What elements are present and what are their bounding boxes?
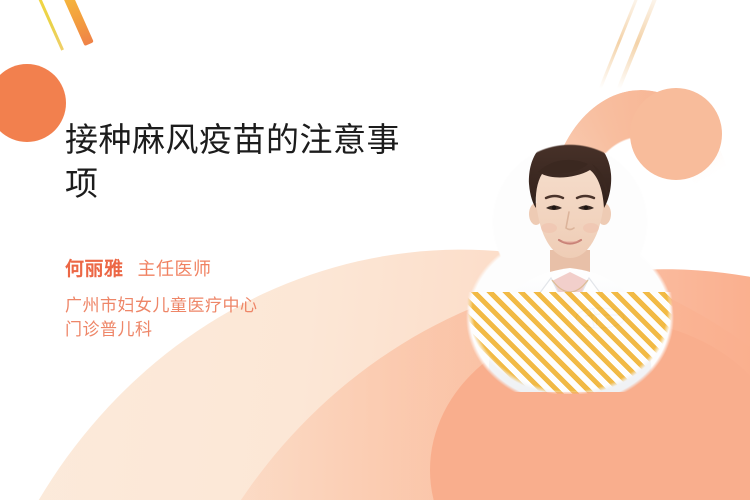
orange-stripe-decoration bbox=[57, 0, 94, 46]
doctor-credits: 何丽雅 主任医师 广州市妇女儿童医疗中心 门诊普儿科 bbox=[65, 254, 425, 342]
faint-stripe-decoration-b bbox=[617, 0, 662, 89]
faint-stripe-decoration-c bbox=[149, 358, 164, 393]
yellow-stripe-decoration bbox=[36, 0, 64, 51]
portrait-composition bbox=[452, 86, 750, 396]
faint-stripe-decoration-a bbox=[599, 0, 643, 89]
doctor-hospital: 广州市妇女儿童医疗中心 bbox=[65, 294, 425, 318]
orange-circle-decoration bbox=[0, 64, 66, 142]
yellow-stripe-band bbox=[464, 292, 676, 394]
doctor-department: 门诊普儿科 bbox=[65, 318, 425, 342]
doctor-name-line: 何丽雅 主任医师 bbox=[65, 254, 425, 281]
video-cover-card: 接种麻风疫苗的注意事项 何丽雅 主任医师 广州市妇女儿童医疗中心 门诊普儿科 bbox=[0, 0, 750, 500]
page-title: 接种麻风疫苗的注意事项 bbox=[65, 118, 425, 206]
doctor-affiliation: 广州市妇女儿童医疗中心 门诊普儿科 bbox=[65, 294, 425, 342]
doctor-name: 何丽雅 bbox=[65, 254, 124, 281]
text-block: 接种麻风疫苗的注意事项 何丽雅 主任医师 广州市妇女儿童医疗中心 门诊普儿科 bbox=[65, 118, 425, 342]
doctor-title: 主任医师 bbox=[138, 255, 212, 281]
